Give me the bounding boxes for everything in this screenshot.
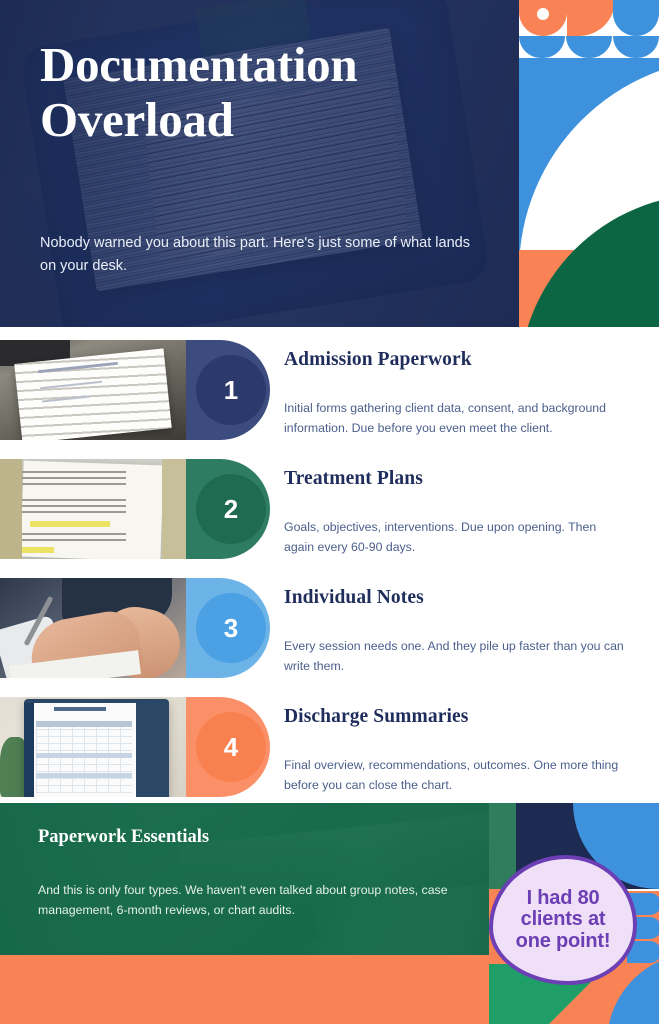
deco-half-circle — [519, 36, 565, 58]
badge-line-2: clients at — [521, 908, 606, 930]
item-number-badge: 4 — [196, 712, 266, 782]
item-thumbnail — [0, 697, 186, 797]
hands-writing-notes-photo — [0, 578, 186, 678]
item-body: Individual Notes Every session needs one… — [284, 573, 629, 677]
list-item: 4 Discharge Summaries Final overview, re… — [0, 692, 659, 811]
deco-half-circle — [567, 0, 615, 36]
header-decorative-pattern — [519, 0, 659, 327]
badge-line-3: one point! — [516, 930, 611, 952]
list-item: 2 Treatment Plans Goals, objectives, int… — [0, 454, 659, 573]
page-subtitle: Nobody warned you about this part. Here'… — [40, 232, 470, 279]
banner-description: And this is only four types. We haven't … — [38, 848, 518, 921]
item-thumbnail — [0, 340, 186, 440]
infographic-page: Documentation Overload Nobody warned you… — [0, 0, 659, 1024]
deco-half-circle-row-2 — [519, 36, 659, 58]
deco-half-circle-row-1 — [519, 0, 659, 36]
item-description: Goals, objectives, interventions. Due up… — [284, 490, 629, 558]
item-body: Admission Paperwork Initial forms gather… — [284, 335, 629, 439]
item-thumbnail — [0, 459, 186, 559]
callout-badge-text: I had 80 clients at one point! — [510, 888, 617, 952]
item-number-badge: 3 — [196, 593, 266, 663]
item-thumbnail — [0, 578, 186, 678]
item-number: 4 — [224, 732, 238, 763]
tablet-discharge-summary-photo — [0, 697, 186, 797]
item-description: Final overview, recommendations, outcome… — [284, 728, 629, 796]
list-item: 3 Individual Notes Every session needs o… — [0, 573, 659, 692]
deco-half-circle — [613, 0, 659, 36]
badge-line-1: I had 80 — [527, 887, 600, 909]
item-title: Treatment Plans — [284, 454, 629, 490]
item-title: Individual Notes — [284, 573, 629, 609]
item-number: 2 — [224, 494, 238, 525]
banner-text-block: Paperwork Essentials And this is only fo… — [38, 827, 518, 921]
header-title-block: Documentation Overload — [40, 38, 480, 148]
deco-half-circle — [613, 36, 659, 58]
item-title: Discharge Summaries — [284, 692, 629, 728]
page-title-line-2: Overload — [40, 92, 234, 147]
item-description: Every session needs one. And they pile u… — [284, 609, 629, 677]
item-number-badge: 1 — [196, 355, 266, 425]
stack-of-papers-photo — [0, 340, 186, 440]
highlighted-document-photo — [0, 459, 186, 559]
item-title: Admission Paperwork — [284, 335, 629, 371]
item-number: 1 — [224, 375, 238, 406]
page-title-line-1: Documentation — [40, 37, 357, 92]
list-item: 1 Admission Paperwork Initial forms gath… — [0, 335, 659, 454]
item-number-badge: 2 — [196, 474, 266, 544]
header-section: Documentation Overload Nobody warned you… — [0, 0, 659, 327]
banner-title: Paperwork Essentials — [38, 827, 518, 848]
item-description: Initial forms gathering client data, con… — [284, 371, 629, 439]
item-body: Discharge Summaries Final overview, reco… — [284, 692, 629, 796]
item-number: 3 — [224, 613, 238, 644]
item-body: Treatment Plans Goals, objectives, inter… — [284, 454, 629, 558]
page-title: Documentation Overload — [40, 38, 480, 148]
deco-dot — [537, 8, 549, 20]
deco-half-circle — [566, 36, 612, 58]
documentation-type-list: 1 Admission Paperwork Initial forms gath… — [0, 335, 659, 811]
